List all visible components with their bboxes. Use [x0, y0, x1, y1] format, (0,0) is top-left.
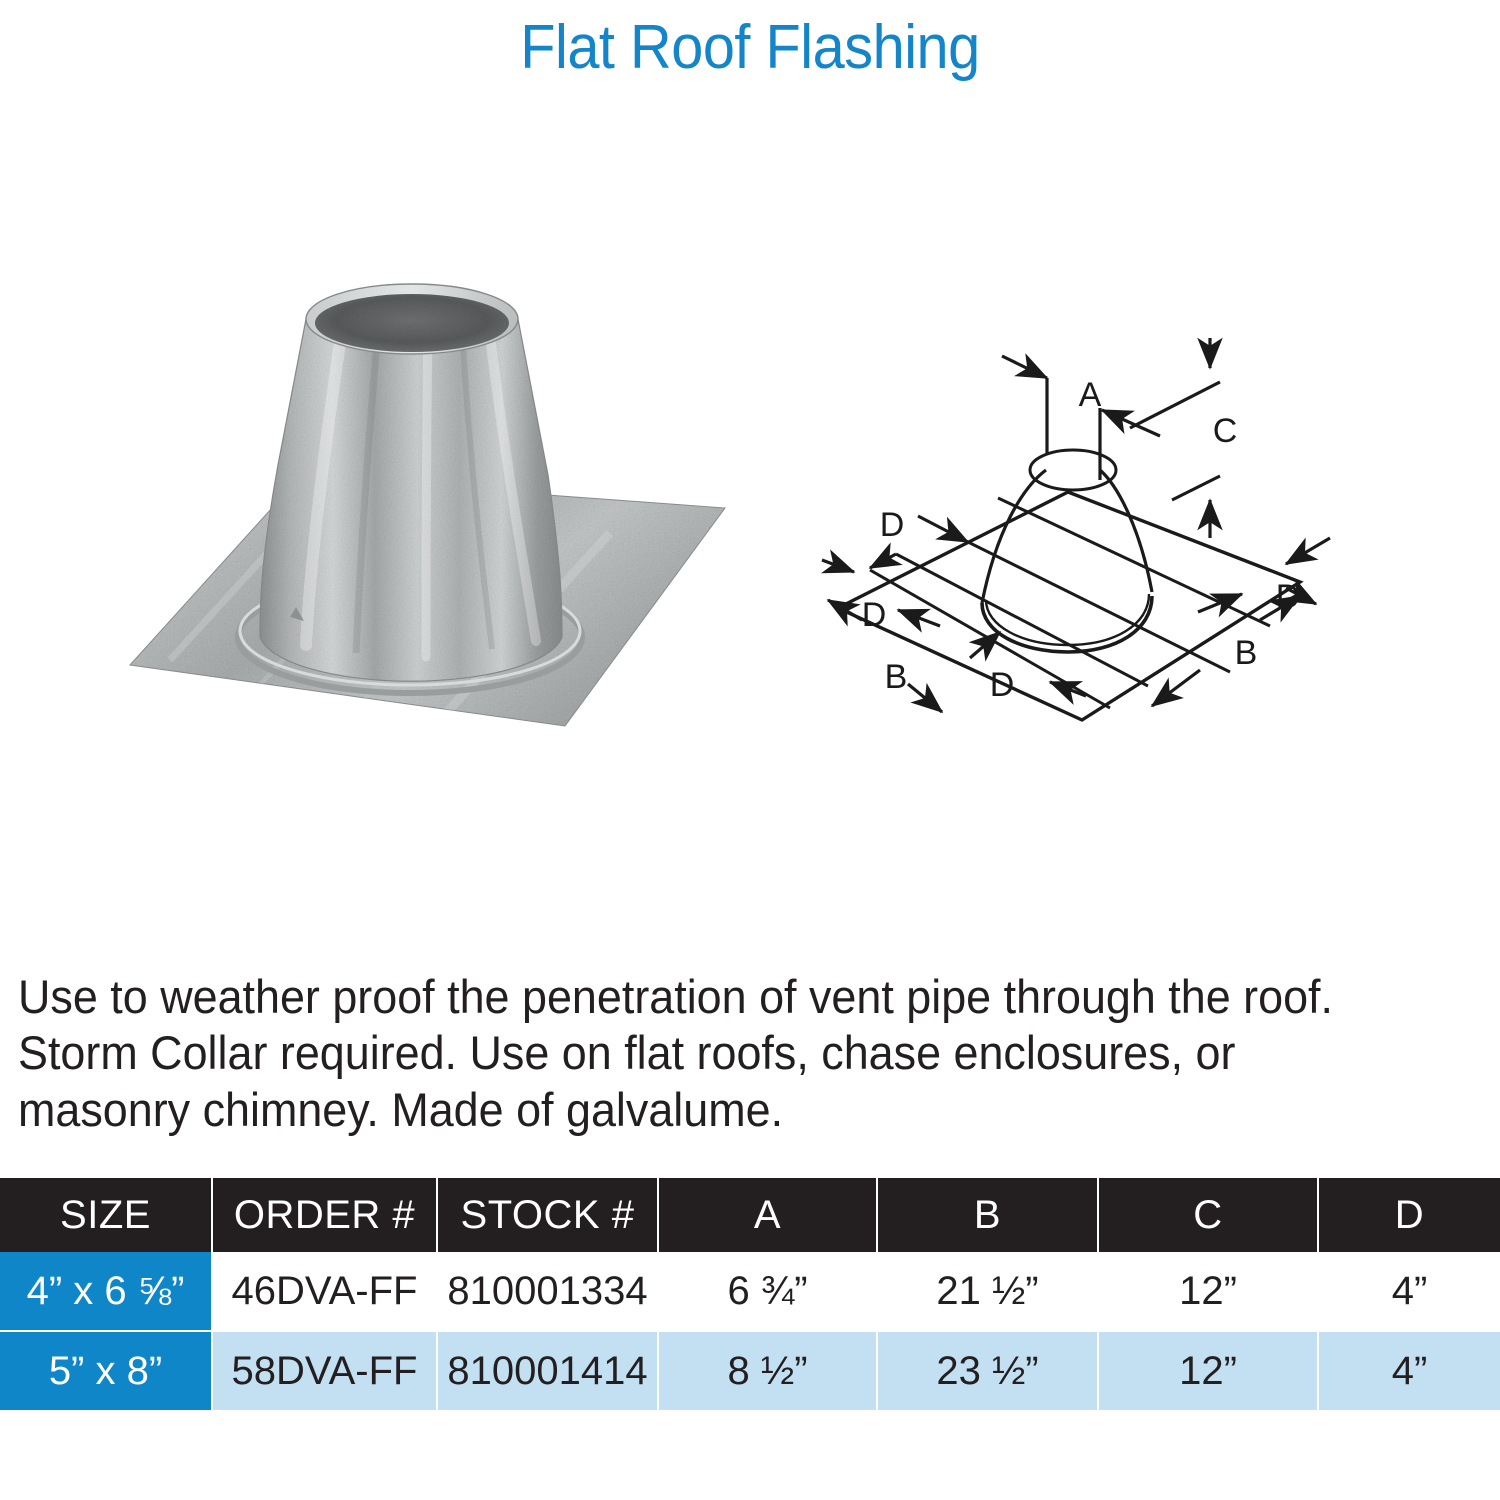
product-photo — [110, 265, 750, 745]
dim-label-b-right: B — [1235, 634, 1258, 672]
cell-d: 4” — [1318, 1252, 1500, 1331]
cell-a: 8 ½” — [658, 1331, 877, 1411]
dim-label-d-mid-left: D — [862, 596, 887, 634]
cell-b: 23 ½” — [877, 1331, 1098, 1411]
column-header-size: SIZE — [0, 1178, 212, 1252]
cell-stock: 810001334 — [437, 1252, 658, 1331]
column-header-order: ORDER # — [212, 1178, 437, 1252]
top-opening — [306, 284, 518, 354]
cell-size: 4” x 6 ⅝” — [0, 1252, 212, 1331]
table-row: 5” x 8” 58DVA-FF 810001414 8 ½” 23 ½” 12… — [0, 1331, 1500, 1411]
column-header-a: A — [658, 1178, 877, 1252]
cell-b: 21 ½” — [877, 1252, 1098, 1331]
dim-label-d-right: D — [1276, 578, 1301, 616]
column-header-stock: STOCK # — [437, 1178, 658, 1252]
cell-a: 6 ¾” — [658, 1252, 877, 1331]
cell-stock: 810001414 — [437, 1331, 658, 1411]
cell-d: 4” — [1318, 1331, 1500, 1411]
dim-label-d-bottom: D — [990, 666, 1015, 704]
column-header-b: B — [877, 1178, 1098, 1252]
product-description: Use to weather proof the penetration of … — [18, 969, 1398, 1138]
dimension-diagram: A C D D B D D B — [800, 320, 1360, 740]
cell-size: 5” x 8” — [0, 1331, 212, 1411]
cell-c: 12” — [1098, 1331, 1318, 1411]
column-header-d: D — [1318, 1178, 1500, 1252]
column-header-c: C — [1098, 1178, 1318, 1252]
cell-order: 46DVA-FF — [212, 1252, 437, 1331]
product-imagery-section: A C D D B D D B — [0, 140, 1500, 900]
dim-label-c: C — [1213, 412, 1238, 450]
specification-table: SIZE ORDER # STOCK # A B C D 4” x 6 ⅝” 4… — [0, 1178, 1500, 1412]
cell-order: 58DVA-FF — [212, 1331, 437, 1411]
dim-a — [1002, 356, 1160, 480]
dim-c — [1130, 338, 1220, 538]
dim-label-b-left: B — [885, 658, 908, 696]
table-row: 4” x 6 ⅝” 46DVA-FF 810001334 6 ¾” 21 ½” … — [0, 1252, 1500, 1331]
cell-c: 12” — [1098, 1252, 1318, 1331]
dim-label-a: A — [1079, 376, 1102, 414]
table-header-row: SIZE ORDER # STOCK # A B C D — [0, 1178, 1500, 1252]
dim-label-d-top-left: D — [880, 506, 905, 544]
page-title: Flat Roof Flashing — [53, 12, 1448, 83]
